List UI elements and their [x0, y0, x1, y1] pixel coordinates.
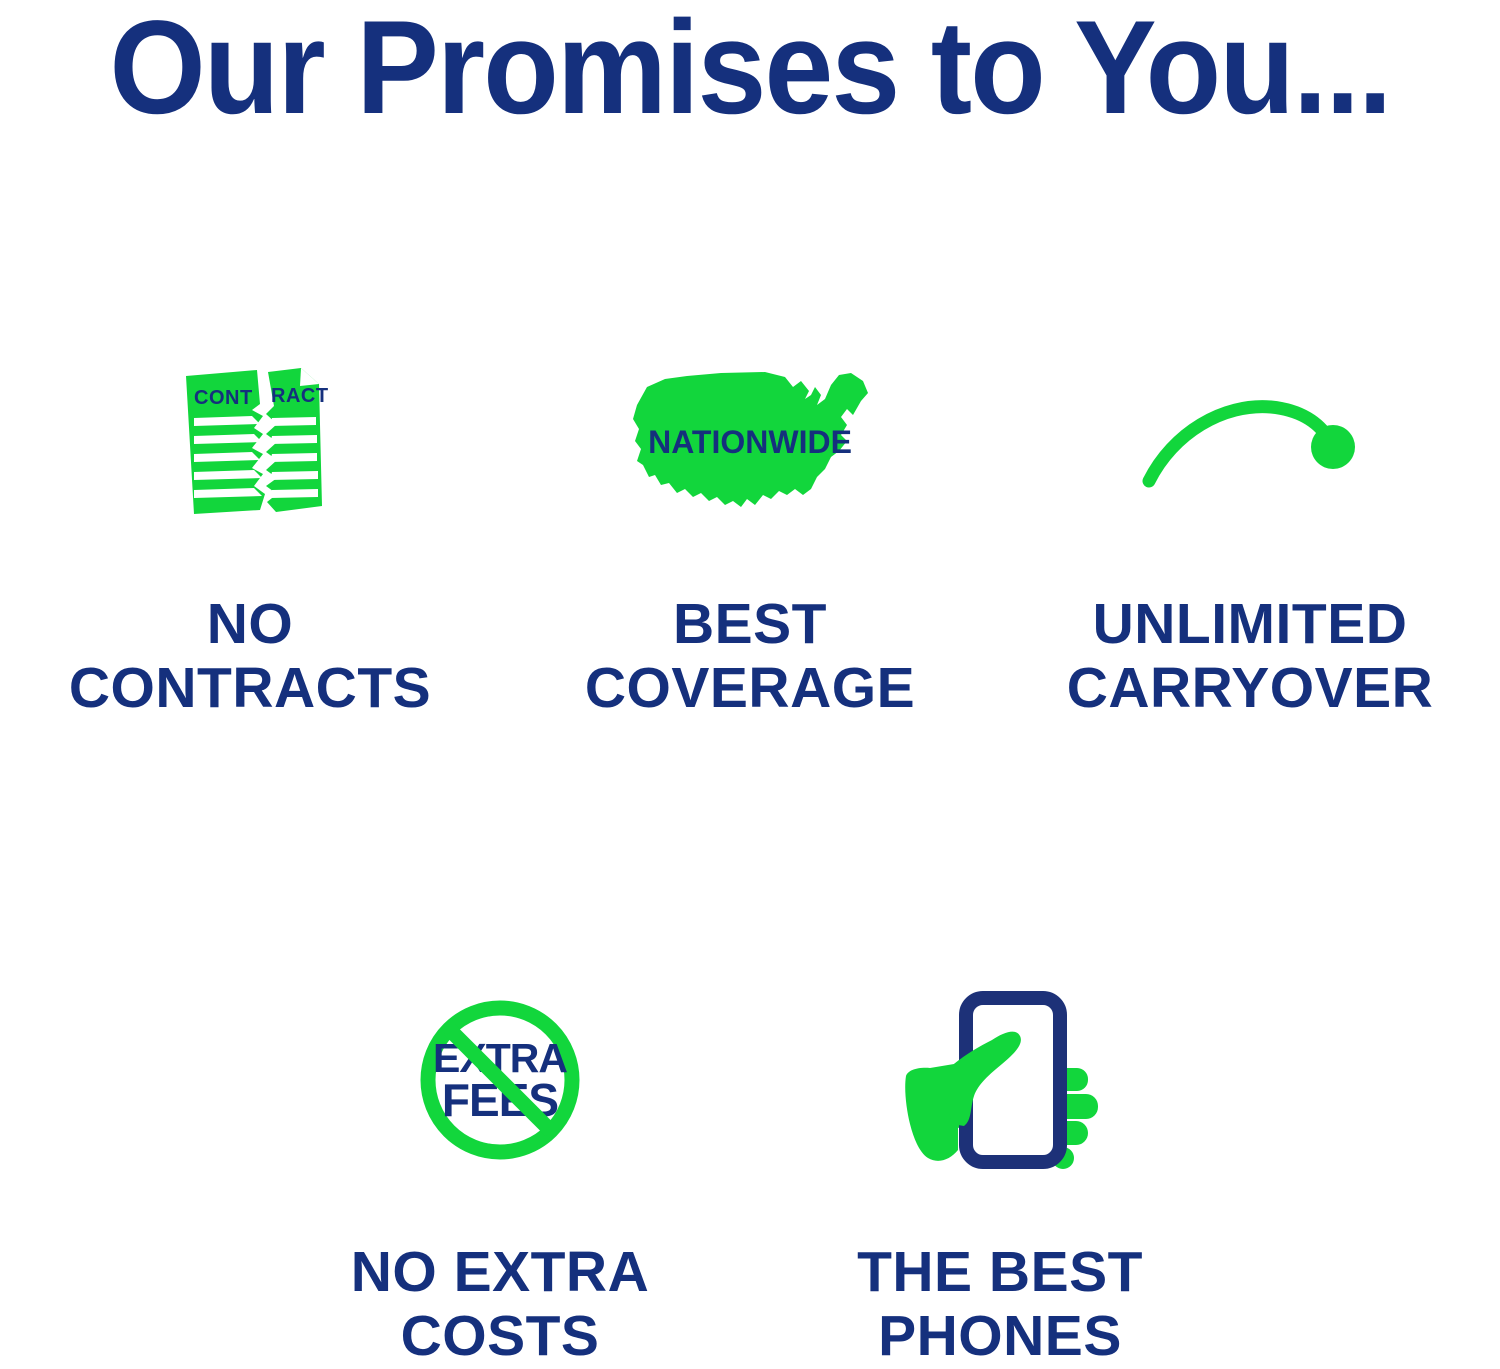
promise-item-best-coverage: NATIONWIDE BEST COVERAGE [500, 340, 1000, 721]
promise-item-no-extra-costs: EXTRA FEES NO EXTRA COSTS [250, 975, 750, 1369]
usa-map-icon: NATIONWIDE [625, 340, 875, 540]
promise-label-no-contracts: NO CONTRACTS [69, 592, 431, 721]
torn-contract-icon: CONT RACT [164, 340, 336, 540]
contract-text-right: RACT [271, 385, 329, 407]
carryover-arc-icon [1143, 340, 1358, 540]
no-extra-fees-icon: EXTRA FEES [410, 975, 590, 1185]
promise-label-the-best-phones: THE BEST PHONES [857, 1240, 1143, 1369]
promise-item-no-contracts: CONT RACT NO CONTRACTS [0, 340, 500, 721]
promise-item-unlimited-carryover: UNLIMITED CARRYOVER [1000, 340, 1500, 721]
contract-text-left: CONT [194, 387, 253, 409]
promises-row-bottom: EXTRA FEES NO EXTRA COSTS [0, 975, 1500, 1369]
promise-label-no-extra-costs: NO EXTRA COSTS [351, 1240, 650, 1369]
promise-label-best-coverage: BEST COVERAGE [585, 592, 915, 721]
promise-label-unlimited-carryover: UNLIMITED CARRYOVER [1067, 592, 1434, 721]
promises-row-top: CONT RACT NO CONTRACTS NATIONWIDE BEST C… [0, 340, 1500, 721]
page-title: Our Promises to You... [53, 2, 1448, 135]
promises-graphic: Our Promises to You... [0, 0, 1500, 1367]
hand-holding-phone-icon [894, 975, 1106, 1185]
nationwide-text: NATIONWIDE [648, 424, 852, 460]
promise-item-the-best-phones: THE BEST PHONES [750, 975, 1250, 1369]
